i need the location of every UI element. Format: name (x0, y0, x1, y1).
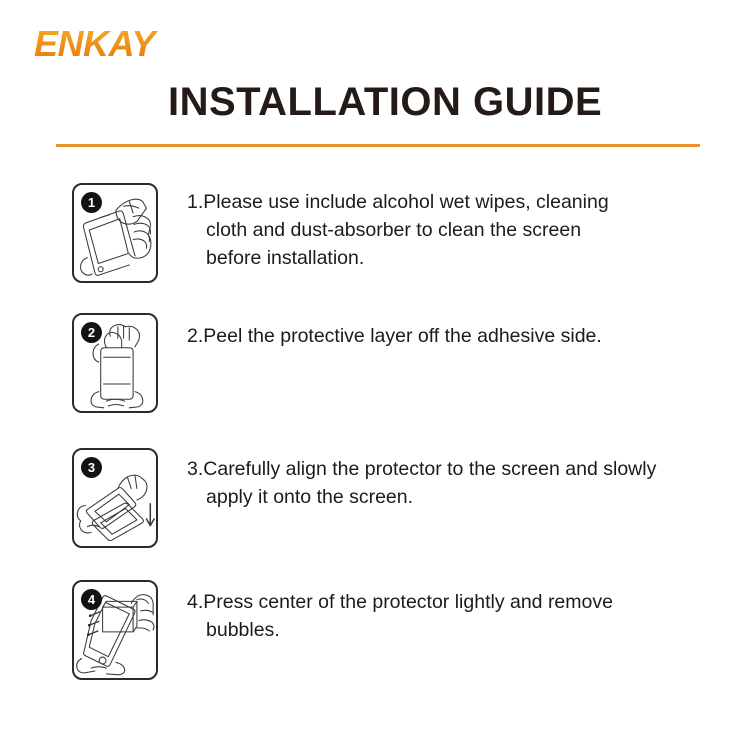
step-4-line-2: bubbles. (187, 616, 707, 644)
step-1-line-1: 1.Please use include alcohol wet wipes, … (187, 191, 609, 213)
step-3-line-1: 3.Carefully align the protector to the s… (187, 458, 656, 480)
step-1-badge: 1 (81, 192, 102, 213)
step-2-illustration: 2 (72, 313, 158, 413)
step-2-line-1: 2.Peel the protective layer off the adhe… (187, 325, 602, 347)
step-4-line-1: 4.Press center of the protector lightly … (187, 591, 613, 613)
step-2-badge: 2 (81, 322, 102, 343)
step-1-illustration: 1 (72, 183, 158, 283)
steps-list: 1 1.Please use include alcohol wet wipes… (0, 0, 750, 750)
step-3-badge: 3 (81, 457, 102, 478)
step-4-text: 4.Press center of the protector lightly … (187, 588, 707, 644)
step-3-text: 3.Carefully align the protector to the s… (187, 455, 727, 511)
step-2-text: 2.Peel the protective layer off the adhe… (187, 322, 707, 350)
step-3-line-2: apply it onto the screen. (187, 483, 727, 511)
step-1-line-3: before installation. (187, 244, 707, 272)
step-4-badge: 4 (81, 589, 102, 610)
step-3-illustration: 3 (72, 448, 158, 548)
step-1-text: 1.Please use include alcohol wet wipes, … (187, 188, 707, 272)
step-4-illustration: 4 (72, 580, 158, 680)
step-1-line-2: cloth and dust-absorber to clean the scr… (187, 216, 707, 244)
